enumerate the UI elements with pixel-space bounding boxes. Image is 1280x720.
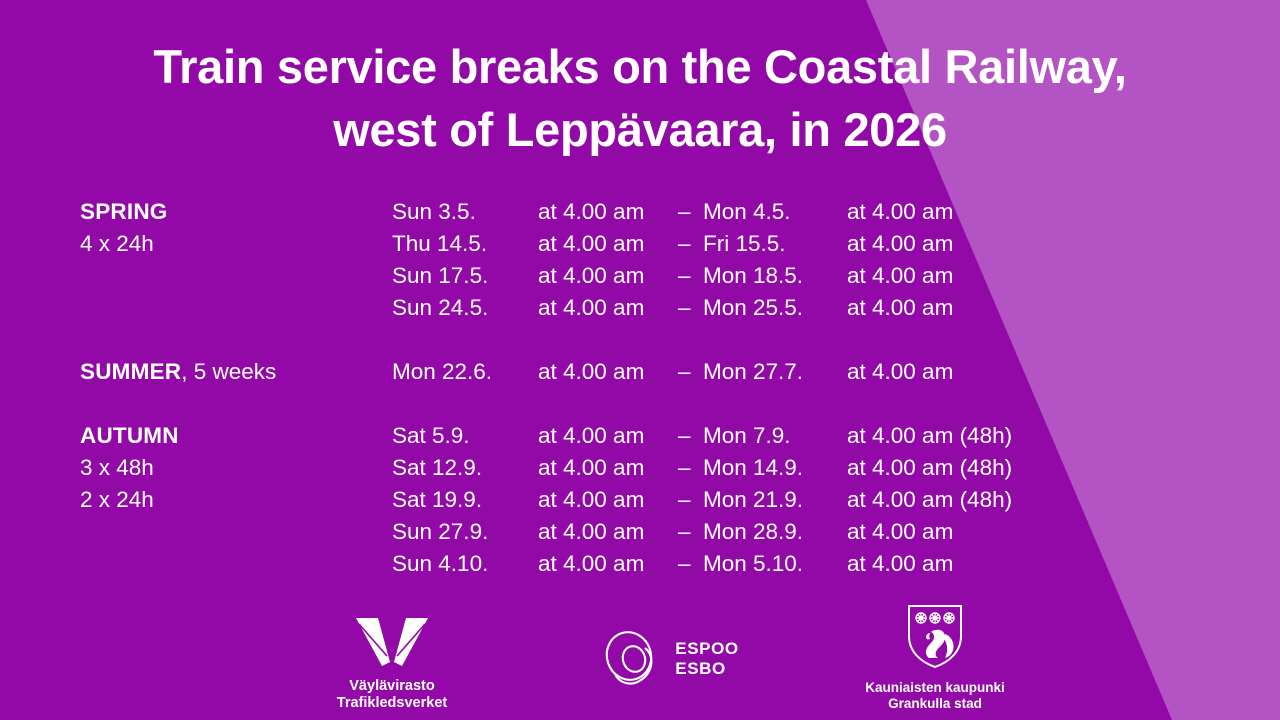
row-start-day: Sun 17.5. <box>392 260 488 292</box>
logo-kauniainen: Kauniaisten kaupunki Grankulla stad <box>790 602 1080 712</box>
schedule-group-summer: SUMMER, 5 weeks Mon 22.6. at 4.00 am – M… <box>80 356 1200 388</box>
row-end-time: at 4.00 am <box>847 260 953 292</box>
row-end-day: Mon 4.5. <box>703 196 791 228</box>
row-end-time: at 4.00 am <box>847 516 953 548</box>
row-dash: – <box>678 260 691 292</box>
group-spacer <box>80 388 1200 420</box>
logo-caption-line-2: Grankulla stad <box>790 696 1080 712</box>
logo-vaylavirasto: Väylävirasto Trafikledsverket <box>262 616 522 712</box>
row-start-day: Sat 19.9. <box>392 484 482 516</box>
table-row: Mon 22.6. at 4.00 am – Mon 27.7. at 4.00… <box>80 356 1200 388</box>
logo-espoo-wordmark: ESPOO ESBO <box>675 639 738 679</box>
row-start-time: at 4.00 am <box>538 484 644 516</box>
row-end-time: at 4.00 am (48h) <box>847 420 1012 452</box>
logo-espoo-word-fi: ESPOO <box>675 639 738 659</box>
table-row: Sun 4.10. at 4.00 am – Mon 5.10. at 4.00… <box>80 548 1200 580</box>
vayla-v-mark-icon <box>354 616 430 668</box>
row-start-day: Mon 22.6. <box>392 356 492 388</box>
row-dash: – <box>678 228 691 260</box>
row-start-day: Sat 5.9. <box>392 420 470 452</box>
row-start-day: Sun 4.10. <box>392 548 488 580</box>
row-end-day: Mon 5.10. <box>703 548 803 580</box>
table-row: Sat 12.9. at 4.00 am – Mon 14.9. at 4.00… <box>80 452 1200 484</box>
espoo-loop-mark-icon <box>601 630 663 688</box>
row-dash: – <box>678 356 691 388</box>
logo-espoo-word-sv: ESBO <box>675 659 738 679</box>
table-row: Sun 17.5. at 4.00 am – Mon 18.5. at 4.00… <box>80 260 1200 292</box>
group-spacer <box>80 324 1200 356</box>
row-dash: – <box>678 516 691 548</box>
table-row: Sun 27.9. at 4.00 am – Mon 28.9. at 4.00… <box>80 516 1200 548</box>
logo-vaylavirasto-caption: Väylävirasto Trafikledsverket <box>262 678 522 712</box>
row-end-day: Mon 18.5. <box>703 260 803 292</box>
row-end-time: at 4.00 am <box>847 548 953 580</box>
row-start-day: Sun 3.5. <box>392 196 476 228</box>
row-start-time: at 4.00 am <box>538 228 644 260</box>
row-end-day: Mon 21.9. <box>703 484 803 516</box>
row-dash: – <box>678 420 691 452</box>
row-end-time: at 4.00 am (48h) <box>847 452 1012 484</box>
row-start-time: at 4.00 am <box>538 292 644 324</box>
logo-kauniainen-caption: Kauniaisten kaupunki Grankulla stad <box>790 680 1080 712</box>
slide-content: Train service breaks on the Coastal Rail… <box>0 0 1280 720</box>
schedule-group-autumn: AUTUMN 3 x 48h 2 x 24h Sat 5.9. at 4.00 … <box>80 420 1200 580</box>
logo-bar: Väylävirasto Trafikledsverket ESPO <box>0 600 1280 712</box>
row-start-time: at 4.00 am <box>538 516 644 548</box>
logo-espoo-row: ESPOO ESBO <box>520 630 820 688</box>
row-end-time: at 4.00 am (48h) <box>847 484 1012 516</box>
row-end-time: at 4.00 am <box>847 196 953 228</box>
table-row: Sat 5.9. at 4.00 am – Mon 7.9. at 4.00 a… <box>80 420 1200 452</box>
row-dash: – <box>678 484 691 516</box>
logo-caption-line-2: Trafikledsverket <box>262 695 522 712</box>
row-start-time: at 4.00 am <box>538 260 644 292</box>
row-dash: – <box>678 548 691 580</box>
row-end-day: Mon 7.9. <box>703 420 791 452</box>
row-end-day: Mon 28.9. <box>703 516 803 548</box>
table-row: Thu 14.5. at 4.00 am – Fri 15.5. at 4.00… <box>80 228 1200 260</box>
row-start-time: at 4.00 am <box>538 452 644 484</box>
slide-root: Train service breaks on the Coastal Rail… <box>0 0 1280 720</box>
table-row: Sat 19.9. at 4.00 am – Mon 21.9. at 4.00… <box>80 484 1200 516</box>
logo-espoo: ESPOO ESBO <box>520 630 820 688</box>
row-start-time: at 4.00 am <box>538 196 644 228</box>
schedule-table: SPRING 4 x 24h Sun 3.5. at 4.00 am – Mon… <box>80 196 1200 580</box>
row-dash: – <box>678 292 691 324</box>
kauniainen-coat-of-arms-icon <box>905 602 965 670</box>
row-start-day: Thu 14.5. <box>392 228 487 260</box>
logo-caption-line-1: Väylävirasto <box>262 678 522 695</box>
table-row: Sun 3.5. at 4.00 am – Mon 4.5. at 4.00 a… <box>80 196 1200 228</box>
logo-caption-line-1: Kauniaisten kaupunki <box>790 680 1080 696</box>
row-end-day: Fri 15.5. <box>703 228 786 260</box>
table-row: Sun 24.5. at 4.00 am – Mon 25.5. at 4.00… <box>80 292 1200 324</box>
page-title: Train service breaks on the Coastal Rail… <box>0 36 1280 161</box>
schedule-group-spring: SPRING 4 x 24h Sun 3.5. at 4.00 am – Mon… <box>80 196 1200 324</box>
row-end-day: Mon 25.5. <box>703 292 803 324</box>
row-start-time: at 4.00 am <box>538 548 644 580</box>
page-title-line-1: Train service breaks on the Coastal Rail… <box>60 36 1220 99</box>
row-end-time: at 4.00 am <box>847 228 953 260</box>
row-end-day: Mon 27.7. <box>703 356 803 388</box>
row-end-day: Mon 14.9. <box>703 452 803 484</box>
page-title-line-2: west of Leppävaara, in 2026 <box>60 99 1220 162</box>
row-end-time: at 4.00 am <box>847 292 953 324</box>
row-start-day: Sun 27.9. <box>392 516 488 548</box>
row-dash: – <box>678 196 691 228</box>
row-start-time: at 4.00 am <box>538 420 644 452</box>
row-start-day: Sun 24.5. <box>392 292 488 324</box>
row-start-day: Sat 12.9. <box>392 452 482 484</box>
row-start-time: at 4.00 am <box>538 356 644 388</box>
row-dash: – <box>678 452 691 484</box>
row-end-time: at 4.00 am <box>847 356 953 388</box>
